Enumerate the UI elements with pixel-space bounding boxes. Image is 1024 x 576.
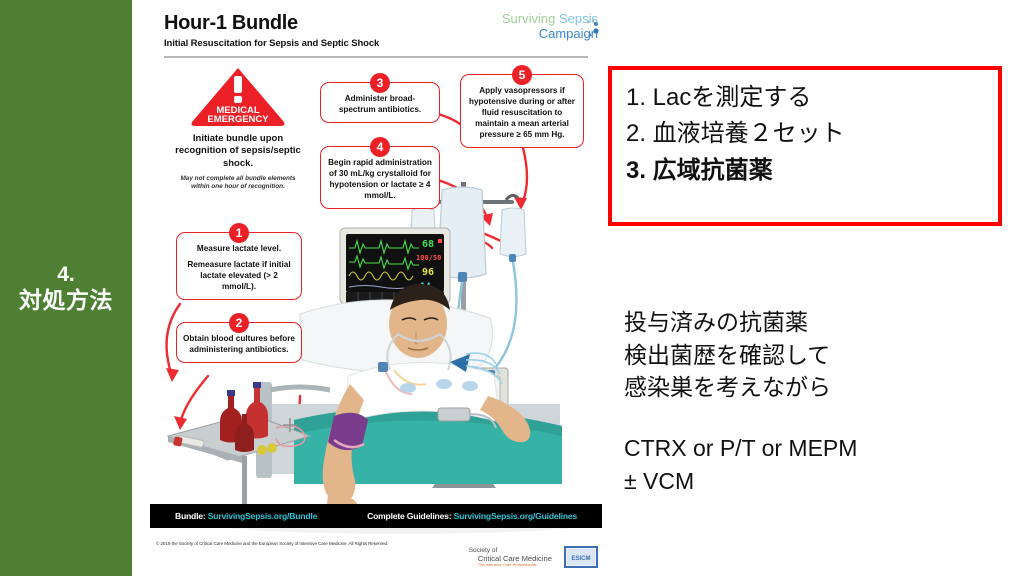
svg-text:68: 68 [422,239,434,250]
footer-bundle-label: Bundle: [175,511,206,521]
slide: 4. 対処方法 Hour-1 Bundle Initial Resuscitat… [0,0,1024,576]
esicm-logo: ESICM [564,546,598,568]
step-badge-5: 5 [512,65,532,85]
step-badge-4: 4 [370,137,390,157]
footer-bundle-url[interactable]: SurvivingSepsis.org/Bundle [208,511,317,521]
step-4-text: Begin rapid administration of 30 mL/kg c… [327,158,433,202]
callout-step-4: 4 Begin rapid administration of 30 mL/kg… [320,146,440,209]
footer-guidelines-label: Complete Guidelines: [367,511,451,521]
callout-step-5: 5 Apply vasopressors if hypotensive duri… [460,74,584,148]
section-sidebar: 4. 対処方法 [0,0,132,576]
poster-footer-logos: Society of Critical Care Medicine The In… [469,546,598,568]
callout-step-2: 2 Obtain blood cultures before administe… [176,322,302,363]
step-1-text2: Remeasure lactate if initial lactate ele… [187,260,290,291]
esicm-text: ESICM [571,556,590,562]
callout-step-1: 1 Measure lactate level. Remeasure lacta… [176,232,302,300]
esicm-mark-icon: ESICM [564,546,598,568]
svg-text:96: 96 [422,267,434,278]
hour1-bundle-poster: Hour-1 Bundle Initial Resuscitation for … [150,4,602,572]
poster-copyright: © 2019 the Society of Critical Care Medi… [156,541,388,546]
svg-text:100/50: 100/50 [416,254,441,262]
sccm-line3: The Intensive Care Professionals [469,563,552,568]
step-3-text: Administer broad-spectrum antibiotics. [327,94,433,116]
step-2-text: Obtain blood cultures before administeri… [183,334,295,356]
note-line-2: 検出菌歴を確認して [624,339,1004,372]
note-line-1: 投与済みの抗菌薬 [624,306,1004,339]
sidebar-section-title: 対処方法 [19,287,113,313]
note-line-3: 感染巣を考えながら [624,371,1004,404]
key-points-red-box: 1. Lacを測定する 2. 血液培養２セット 3. 広域抗菌薬 [608,66,1002,226]
sccm-logo: Society of Critical Care Medicine The In… [469,547,552,568]
footer-guidelines-url[interactable]: SurvivingSepsis.org/Guidelines [454,511,577,521]
step-badge-3: 3 [370,73,390,93]
sidebar-section-number: 4. [57,263,75,287]
callout-step-3: 3 Administer broad-spectrum antibiotics. [320,82,440,123]
regimen-line-2: ± VCM [624,465,1004,498]
footer-bundle: Bundle: SurvivingSepsis.org/Bundle [175,511,317,521]
key-point-2: 2. 血液培養２セット [626,116,998,152]
footer-guidelines: Complete Guidelines: SurvivingSepsis.org… [367,511,577,521]
step-1-text: Measure lactate level. [197,244,281,253]
notes-block: 投与済みの抗菌薬 検出菌歴を確認して 感染巣を考えながら CTRX or P/T… [624,306,1004,497]
regimen-line-1: CTRX or P/T or MEPM [624,432,1004,465]
step-badge-2: 2 [229,313,249,333]
step-badge-1: 1 [229,223,249,243]
step-5-text: Apply vasopressors if hypotensive during… [467,86,577,141]
poster-footer-bar: Bundle: SurvivingSepsis.org/Bundle Compl… [150,504,602,528]
notes-spacer [624,404,1004,432]
key-point-1: 1. Lacを測定する [626,80,998,116]
key-point-3: 3. 広域抗菌薬 [626,153,998,189]
